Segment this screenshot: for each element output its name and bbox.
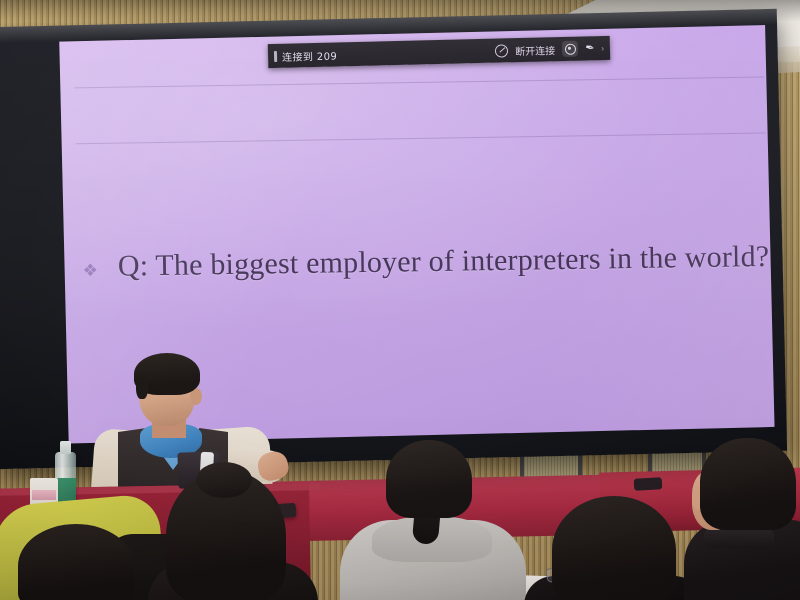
attendee-4-hair (552, 496, 676, 600)
attendee-2-hair-bun (196, 462, 252, 498)
view-toggle-button[interactable] (562, 41, 578, 57)
bullet-diamond-icon: ❖ (83, 263, 99, 280)
cast-connection-label: 连接到 209 (282, 47, 337, 63)
eye-icon (564, 43, 575, 54)
slide-question-text: Q: The biggest employer of interpreters … (118, 240, 770, 284)
speaker-hair (134, 353, 200, 395)
drag-grip-icon[interactable] (274, 50, 277, 61)
attendee-3-hair (386, 440, 472, 518)
slide-divider-upper (74, 76, 764, 88)
disconnect-button[interactable]: 断开连接 (515, 42, 555, 58)
slide-bullet-row: ❖ Q: The biggest employer of interpreter… (82, 240, 769, 284)
cast-toolbar-right: 断开连接 ✒ › (495, 40, 604, 59)
link-icon (495, 44, 508, 57)
slide-divider-lower (76, 132, 766, 144)
projector-screen-frame: ❖ Q: The biggest employer of interpreter… (0, 9, 787, 469)
chevron-right-icon[interactable]: › (601, 43, 604, 52)
smartphone-on-table-right (634, 477, 663, 490)
photo-canvas: ❖ Q: The biggest employer of interpreter… (0, 0, 800, 600)
attendee-5-hair (700, 438, 796, 530)
attendee-1-hair (18, 524, 134, 600)
cast-toolbar-left: 连接到 209 (274, 47, 337, 64)
pin-icon[interactable]: ✒ (584, 42, 595, 55)
